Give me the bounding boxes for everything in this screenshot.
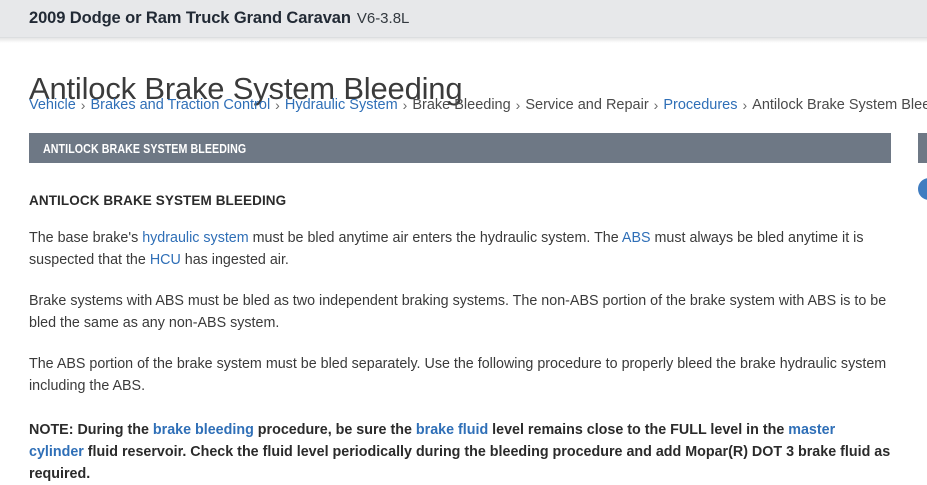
link-abs[interactable]: ABS bbox=[622, 230, 651, 246]
breadcrumb-item-brakes-and-traction-control[interactable]: Brakes and Traction Control bbox=[90, 97, 270, 113]
link-hydraulic-system[interactable]: hydraulic system bbox=[142, 230, 248, 246]
vehicle-engine: V6-3.8L bbox=[357, 10, 410, 27]
link-hcu[interactable]: HCU bbox=[150, 252, 181, 268]
breadcrumb-separator: › bbox=[403, 97, 408, 113]
breadcrumb-item-brake-bleeding: Brake Bleeding bbox=[412, 97, 510, 113]
breadcrumb-separator: › bbox=[743, 97, 748, 113]
breadcrumb-separator: › bbox=[516, 97, 521, 113]
article-sub-heading: ANTILOCK BRAKE SYSTEM BLEEDING bbox=[29, 193, 891, 208]
note-text-1: NOTE: During the bbox=[29, 422, 153, 438]
section-header-bar-next bbox=[918, 133, 927, 163]
section-header-bar: ANTILOCK BRAKE SYSTEM BLEEDING bbox=[29, 133, 891, 163]
link-brake-bleeding[interactable]: brake bleeding bbox=[153, 422, 254, 438]
breadcrumb-separator: › bbox=[654, 97, 659, 113]
vehicle-name: 2009 Dodge or Ram Truck Grand Caravan bbox=[29, 9, 351, 28]
section-header-label: ANTILOCK BRAKE SYSTEM BLEEDING bbox=[43, 141, 246, 156]
note-text-4: fluid reservoir. Check the fluid level p… bbox=[29, 444, 890, 482]
note-text-3: level remains close to the FULL level in… bbox=[488, 422, 788, 438]
note-text-2: procedure, be sure the bbox=[254, 422, 416, 438]
note-paragraph: NOTE: During the brake bleeding procedur… bbox=[29, 419, 891, 485]
link-brake-fluid[interactable]: brake fluid bbox=[416, 422, 488, 438]
paragraph-2: Brake systems with ABS must be bled as t… bbox=[29, 290, 891, 334]
p1-text-2: must be bled anytime air enters the hydr… bbox=[249, 230, 622, 246]
paragraph-1: The base brake's hydraulic system must b… bbox=[29, 227, 891, 271]
p1-text-4: has ingested air. bbox=[181, 252, 289, 268]
p1-text-1: The base brake's bbox=[29, 230, 142, 246]
breadcrumb-item-procedures[interactable]: Procedures bbox=[663, 97, 737, 113]
header-shadow bbox=[0, 38, 927, 43]
breadcrumb-separator: › bbox=[81, 97, 86, 113]
breadcrumb-item-service-and-repair: Service and Repair bbox=[525, 97, 648, 113]
breadcrumb: Vehicle›Brakes and Traction Control›Hydr… bbox=[29, 97, 927, 113]
vehicle-header-bar: 2009 Dodge or Ram Truck Grand Caravan V6… bbox=[0, 0, 927, 38]
breadcrumb-separator: › bbox=[275, 97, 280, 113]
breadcrumb-item-hydraulic-system[interactable]: Hydraulic System bbox=[285, 97, 398, 113]
info-circle-icon[interactable] bbox=[918, 178, 927, 200]
article-body: ANTILOCK BRAKE SYSTEM BLEEDING The base … bbox=[29, 185, 891, 485]
breadcrumb-item-vehicle[interactable]: Vehicle bbox=[29, 97, 76, 113]
paragraph-3: The ABS portion of the brake system must… bbox=[29, 353, 891, 397]
breadcrumb-item-antilock-brake-system-bleeding: Antilock Brake System Bleeding bbox=[752, 97, 927, 113]
